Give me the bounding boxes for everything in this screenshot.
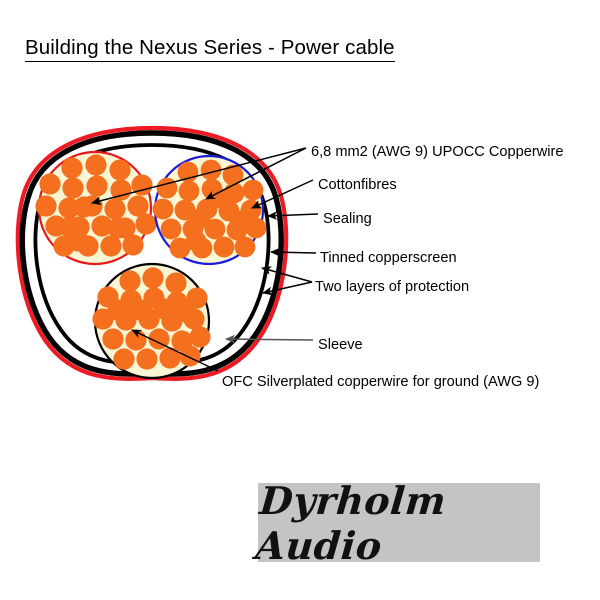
callout-label-cottonfibres: Cottonfibres [318, 178, 397, 193]
callout-label-tinned-copperscreen: Tinned copperscreen [320, 251, 457, 266]
leader-tinned-copperscreen [271, 252, 316, 253]
callout-label-ofc-ground: OFC Silverplated copperwire for ground (… [222, 375, 539, 390]
bundle-top-left-live [35, 152, 156, 264]
bundle-bottom-ground [92, 264, 210, 378]
callout-label-two-layers-of-protection: Two layers of protection [315, 280, 469, 295]
callout-label-sealing: Sealing [323, 212, 372, 227]
callout-label-copperwire: 6,8 mm2 (AWG 9) UPOCC Copperwire [311, 145, 563, 160]
cable-diagram-page: Building the Nexus Series - Power cable [0, 0, 600, 600]
leader-sleeve [226, 339, 313, 340]
callout-label-sleeve: Sleeve [318, 338, 363, 353]
brand-logo: Dyrholm Audio [258, 483, 540, 562]
brand-logo-text: Dyrholm Audio [255, 483, 544, 562]
leader-sealing [268, 214, 318, 216]
